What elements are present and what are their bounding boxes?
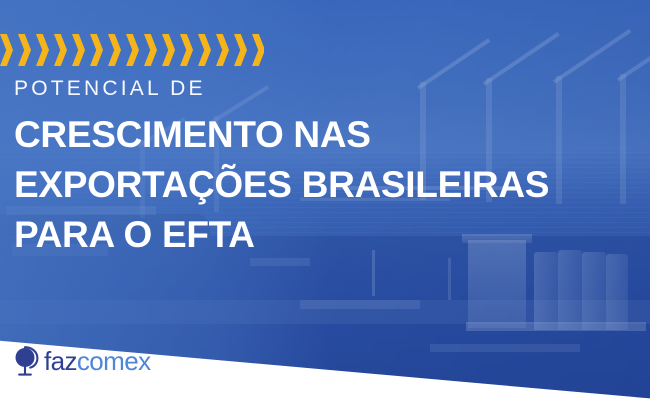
brand-word-comex: comex (77, 346, 151, 376)
chevron-icon (198, 34, 211, 66)
globe-on-stand-icon (12, 344, 42, 378)
chevron-icon (108, 34, 121, 66)
chevron-icon (72, 34, 85, 66)
chevron-icon (126, 34, 139, 66)
brand-wordmark: fazcomex (44, 348, 150, 374)
chevron-icon (90, 34, 103, 66)
chevron-icon (216, 34, 229, 66)
chevron-icon (162, 34, 175, 66)
promotional-banner: POTENCIAL DE CRESCIMENTO NAS EXPORTAÇÕES… (0, 0, 650, 400)
headline-line-2: EXPORTAÇÕES BRASILEIRAS (14, 160, 634, 210)
chevron-icon (144, 34, 157, 66)
brand-word-faz: faz (44, 346, 77, 376)
chevron-icon (0, 34, 13, 66)
chevron-icon (252, 34, 264, 66)
chevron-icon (180, 34, 193, 66)
chevron-icon (234, 34, 247, 66)
page-title: CRESCIMENTO NAS EXPORTAÇÕES BRASILEIRAS … (14, 110, 634, 260)
chevron-icon (36, 34, 49, 66)
chevron-icon (54, 34, 67, 66)
chevron-icon (18, 34, 31, 66)
headline-line-3: PARA O EFTA (14, 210, 634, 260)
headline-line-1: CRESCIMENTO NAS (14, 110, 634, 160)
chevron-strip (0, 34, 264, 66)
brand-logo[interactable]: fazcomex (12, 344, 150, 378)
kicker-text: POTENCIAL DE (14, 78, 206, 99)
